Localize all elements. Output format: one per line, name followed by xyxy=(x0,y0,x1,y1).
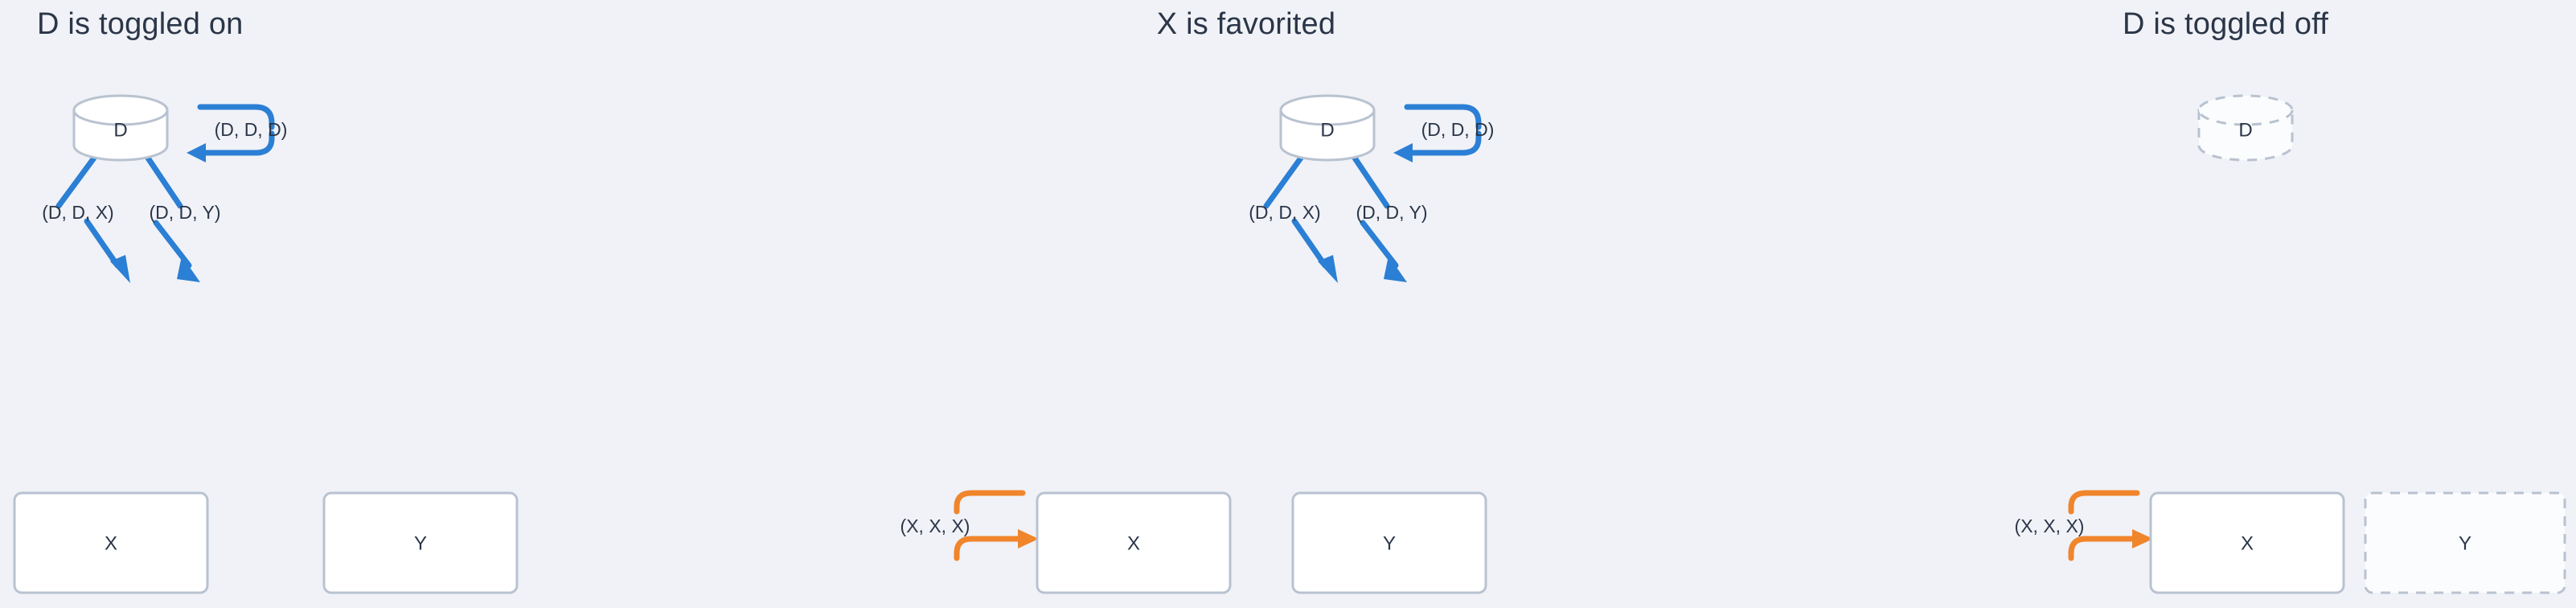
panel-favorited: X is favorited xyxy=(724,0,1769,608)
edge-label-x-x: (X, X, X) xyxy=(900,516,970,536)
node-y[interactable]: Y xyxy=(324,493,517,593)
node-d[interactable]: D xyxy=(1281,96,1374,160)
node-d[interactable]: D xyxy=(2199,96,2292,160)
node-y[interactable]: Y xyxy=(2365,493,2565,593)
node-y-label: Y xyxy=(1383,532,1396,554)
edge-label-d-y: (D, D, Y) xyxy=(149,202,220,223)
edge-label-d-d: (D, D, D) xyxy=(1421,119,1495,140)
graph-favorited: D X Y (D, D, X) (D, D, Y) (D, D, D) (X, … xyxy=(724,0,1769,608)
edge-label-d-x: (D, D, X) xyxy=(1249,202,1320,223)
panel-toggled-on: D is toggled on xyxy=(0,0,724,608)
edge-label-x-x: (X, X, X) xyxy=(2015,516,2085,536)
node-d-label: D xyxy=(113,119,127,141)
node-y-label: Y xyxy=(2459,532,2471,554)
node-x[interactable]: X xyxy=(1037,493,1230,593)
edge-label-d-y: (D, D, Y) xyxy=(1356,202,1427,223)
graph-toggled-off: D X Y (X, X, X) xyxy=(1769,0,2576,608)
node-x-label: X xyxy=(105,532,117,554)
node-x[interactable]: X xyxy=(2151,493,2344,593)
diagram-board: D is toggled on xyxy=(0,0,2576,608)
node-d-label: D xyxy=(2238,119,2252,141)
panel-toggled-off: D is toggled off D X Y xyxy=(1769,0,2576,608)
edge-label-d-x: (D, D, X) xyxy=(42,202,113,223)
node-d-label: D xyxy=(1320,119,1334,141)
edge-label-d-d: (D, D, D) xyxy=(215,119,288,140)
node-x-label: X xyxy=(2241,532,2254,554)
graph-toggled-on: D X Y (D, D, X) (D, D, Y) (D, D, D) xyxy=(0,0,724,608)
node-y[interactable]: Y xyxy=(1293,493,1486,593)
node-x-label: X xyxy=(1127,532,1140,554)
node-y-label: Y xyxy=(414,532,427,554)
node-x[interactable]: X xyxy=(14,493,207,593)
node-d[interactable]: D xyxy=(74,96,167,160)
